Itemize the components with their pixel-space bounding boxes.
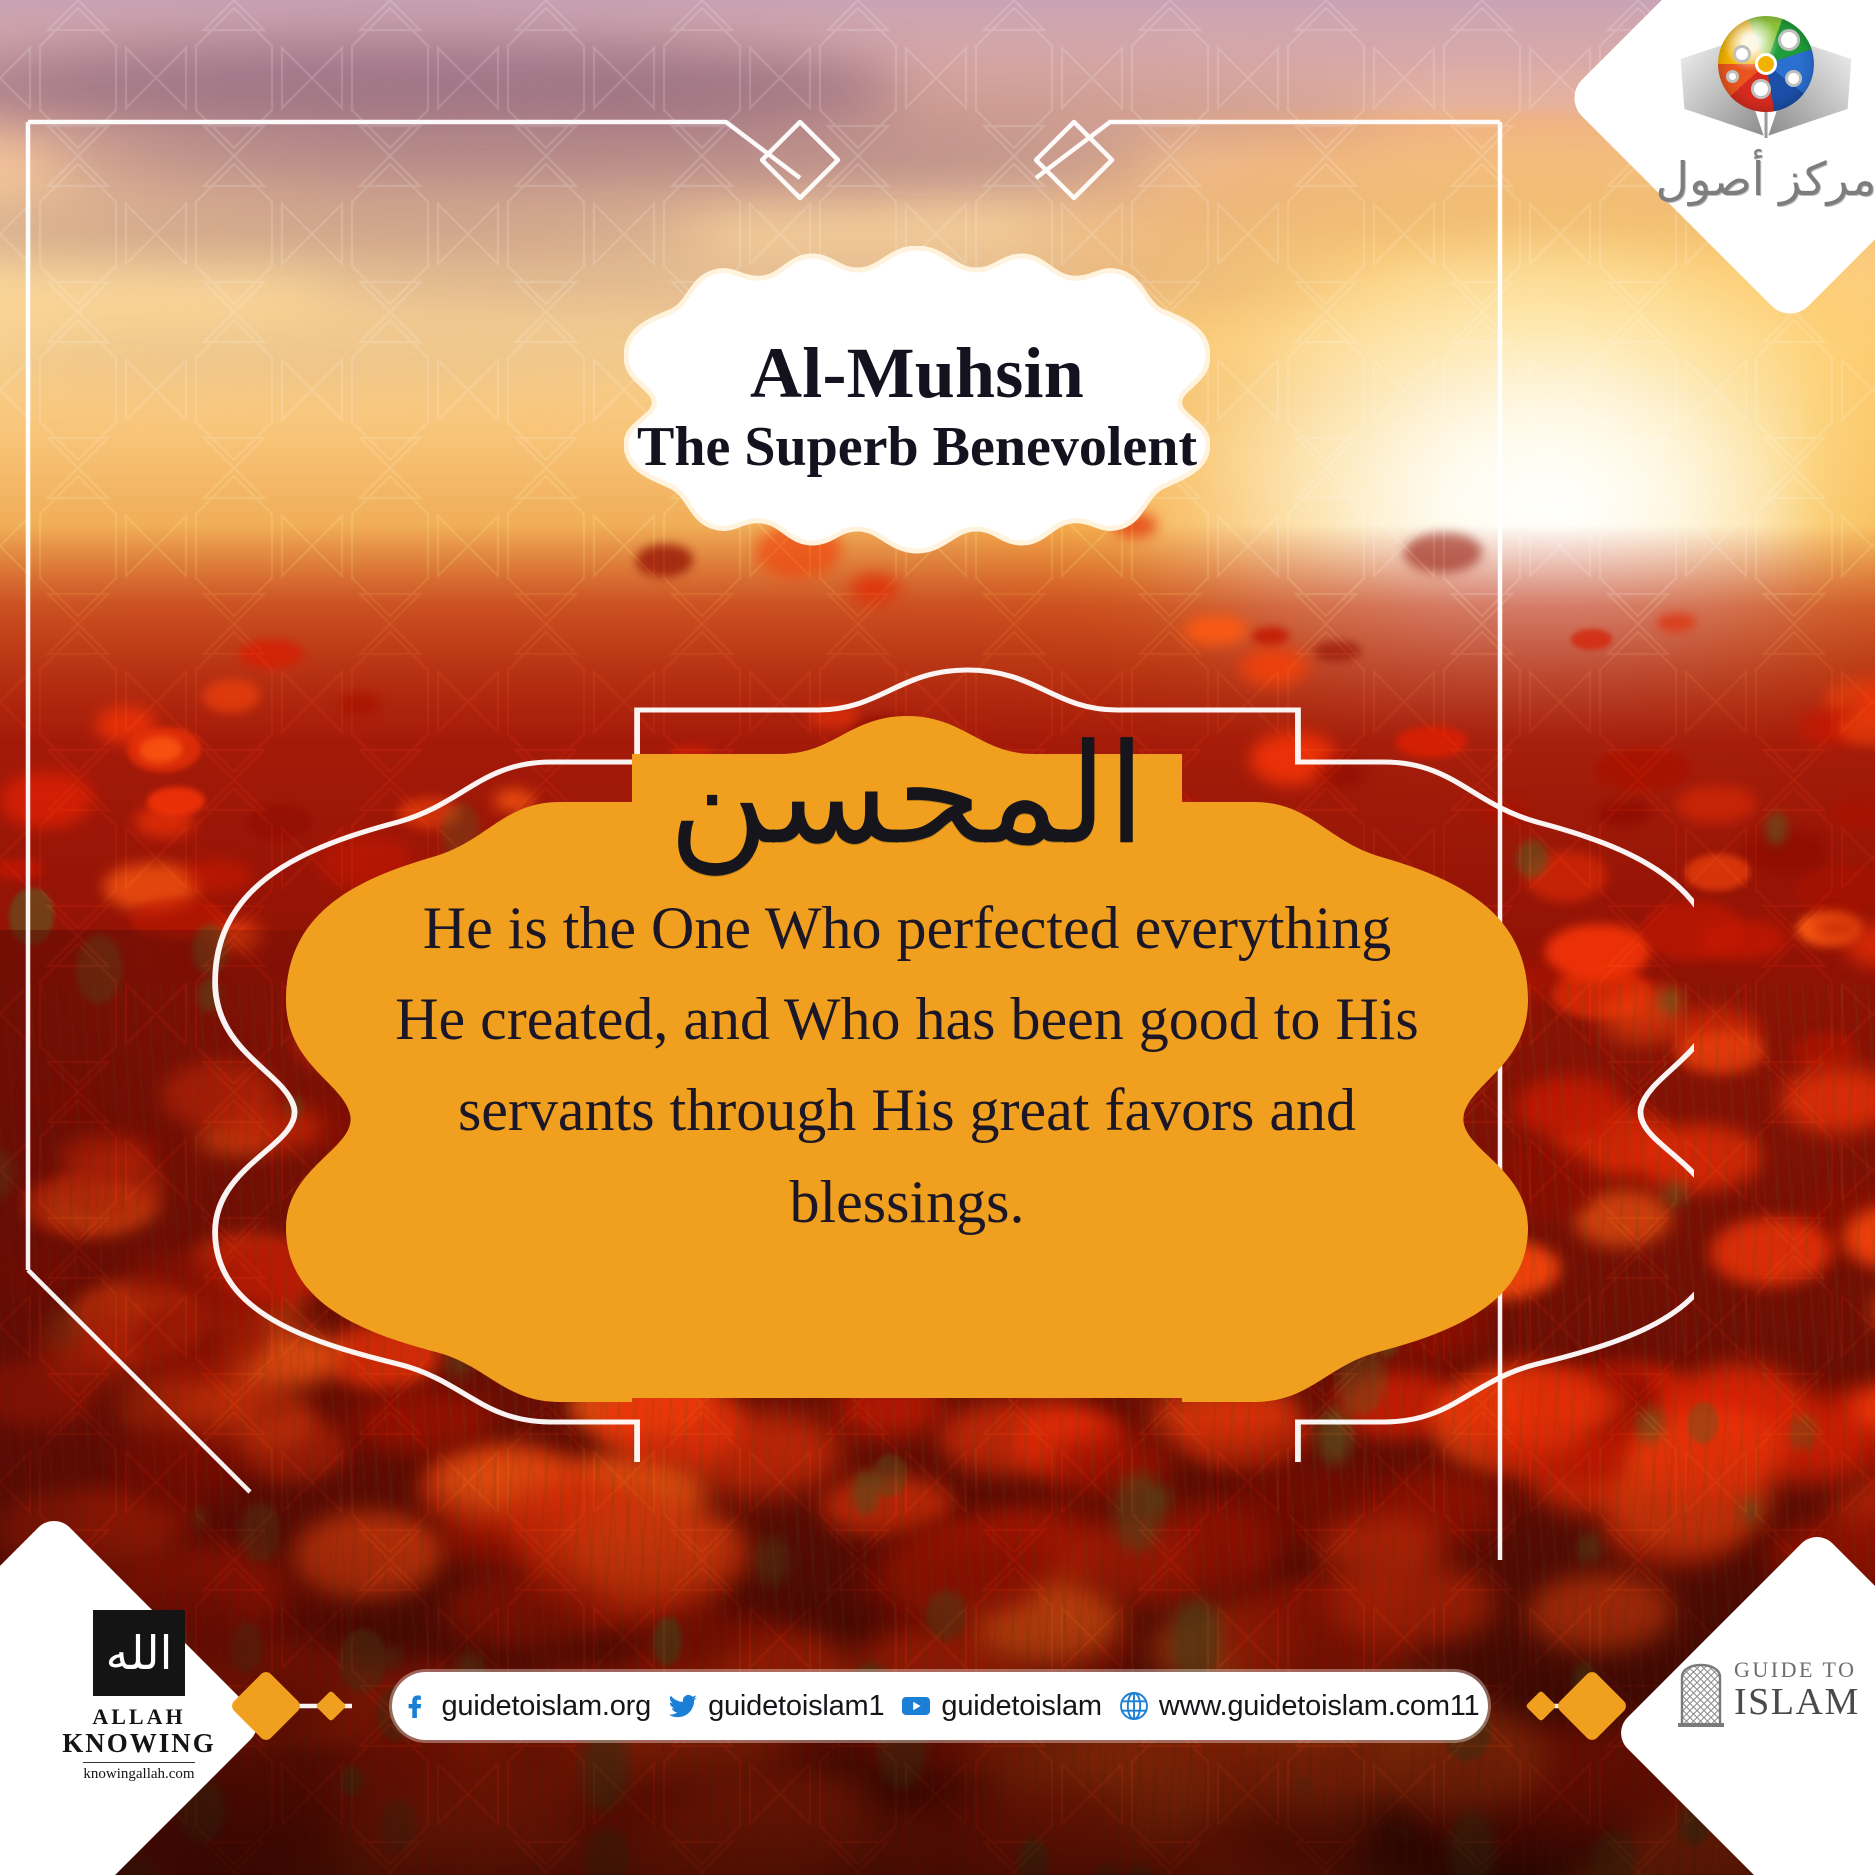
footer-social-bar: guidetoislam.org guidetoislam1 guidetois… bbox=[392, 1672, 1488, 1740]
title-cartouche: Al-Muhsin The Superb Benevolent bbox=[624, 246, 1210, 554]
page-title: Al-Muhsin bbox=[750, 337, 1084, 410]
title-text-block: Al-Muhsin The Superb Benevolent bbox=[624, 246, 1210, 554]
arabic-calligraphy: المحسن bbox=[668, 720, 1145, 869]
knowing-allah-line2: KNOWING bbox=[62, 1730, 216, 1757]
guide-to-islam-logo: GUIDE TO ISLAM bbox=[1676, 1636, 1872, 1744]
poster: مركز أصول Al-Muhsin The Superb Benevolen… bbox=[0, 0, 1875, 1875]
twitter-label: guidetoislam1 bbox=[708, 1690, 884, 1723]
twitter-icon bbox=[667, 1690, 699, 1722]
open-book-icon bbox=[1671, 18, 1861, 152]
mosque-arch-icon bbox=[1676, 1651, 1726, 1729]
knowing-allah-logo: الله ALLAH KNOWING knowingallah.com bbox=[44, 1610, 234, 1830]
knowing-allah-url: knowingallah.com bbox=[83, 1762, 194, 1783]
youtube-label: guidetoislam bbox=[941, 1690, 1101, 1723]
field-bottom-shadow bbox=[0, 1416, 1875, 1875]
gti-line1: GUIDE TO bbox=[1734, 1659, 1860, 1681]
website-label: www.guidetoislam.com11 bbox=[1159, 1690, 1480, 1723]
social-link-youtube[interactable]: guidetoislam bbox=[900, 1690, 1101, 1723]
allah-calligraphy-mark: الله bbox=[93, 1610, 185, 1696]
facebook-label: guidetoislam.org bbox=[441, 1690, 651, 1723]
social-link-facebook[interactable]: guidetoislam.org bbox=[400, 1690, 651, 1723]
cloud-band bbox=[0, 328, 713, 377]
guide-to-islam-wordmark: GUIDE TO ISLAM bbox=[1734, 1659, 1860, 1721]
globe-icon bbox=[1718, 16, 1814, 112]
description-text: He is the One Who perfected everything H… bbox=[392, 883, 1422, 1248]
gti-line2: ISLAM bbox=[1734, 1683, 1860, 1721]
facebook-icon bbox=[400, 1690, 432, 1722]
social-link-twitter[interactable]: guidetoislam1 bbox=[667, 1690, 884, 1723]
social-link-website[interactable]: www.guidetoislam.com11 bbox=[1118, 1690, 1480, 1723]
markaz-usool-logo: مركز أصول bbox=[1648, 18, 1875, 234]
page-subtitle: The Superb Benevolent bbox=[637, 417, 1197, 479]
main-content-panel: المحسن He is the One Who perfected every… bbox=[176, 712, 1638, 1402]
knowing-allah-line1: ALLAH bbox=[92, 1704, 185, 1730]
panel-text-block: المحسن He is the One Who perfected every… bbox=[176, 712, 1638, 1402]
globe-icon bbox=[1118, 1690, 1150, 1722]
youtube-icon bbox=[900, 1690, 932, 1722]
markaz-usool-arabic-text: مركز أصول bbox=[1656, 156, 1875, 202]
